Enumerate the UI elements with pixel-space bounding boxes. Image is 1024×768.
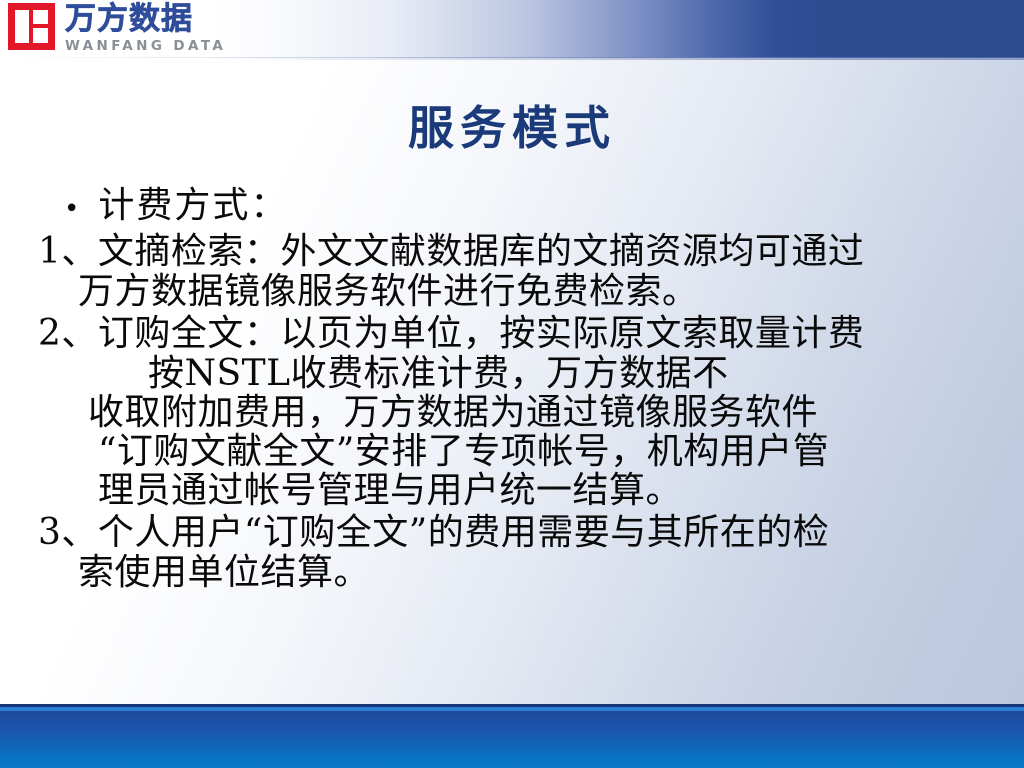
logo-mark-left-block [15, 10, 29, 43]
body-line-item2-d: “订购文献全文”安排了专项帐号，机构用户管 [98, 434, 1024, 470]
bullet-item-billing-method: • 计费方式： [64, 176, 1024, 228]
slide-title: 服务模式 [0, 92, 1024, 158]
footer-panel [0, 711, 1024, 768]
body-line-item1-a: 1、文摘检索：外文文献数据库的文摘资源均可通过 [38, 234, 1024, 270]
wanfang-logo: 万方数据 WANFANG DATA [8, 3, 226, 54]
wanfang-logo-wordmark: 万方数据 WANFANG DATA [65, 3, 226, 54]
body-line-item2-c: 收取附加费用，万方数据为通过镜像服务软件 [88, 395, 1024, 431]
body-line-item2-a: 2、订购全文：以页为单位，按实际原文索取量计费 [38, 316, 1024, 352]
body-line-item1-b: 万方数据镜像服务软件进行免费检索。 [78, 274, 1024, 310]
body-line-item2-e: 理员通过帐号管理与用户统一结算。 [98, 473, 1024, 509]
logo-mark-right-bottom-block [33, 28, 48, 43]
body-line-list: 1、文摘检索：外文文献数据库的文摘资源均可通过万方数据镜像服务软件进行免费检索。… [0, 234, 1024, 591]
presentation-slide: 万方数据 WANFANG DATA 服务模式 • 计费方式： 1、文摘检索：外文… [0, 0, 1024, 768]
bullet-dot-icon: • [64, 196, 81, 222]
logo-english-text: WANFANG DATA [65, 40, 226, 54]
body-line-item3-a: 3、个人用户“订购全文”的费用需要与其所在的检 [38, 515, 1024, 551]
body-line-item2-b: 按NSTL收费标准计费，万方数据不 [148, 356, 1024, 392]
header-divider-rule [0, 57, 1024, 60]
slide-body: • 计费方式： 1、文摘检索：外文文献数据库的文摘资源均可通过万方数据镜像服务软… [0, 176, 1024, 591]
wanfang-logo-mark-icon [8, 3, 55, 50]
body-line-item3-b: 索使用单位结算。 [78, 555, 1024, 591]
logo-chinese-text: 万方数据 [65, 4, 226, 35]
logo-mark-right-top-block [33, 10, 48, 24]
bullet-item-label: 计费方式： [98, 176, 288, 228]
